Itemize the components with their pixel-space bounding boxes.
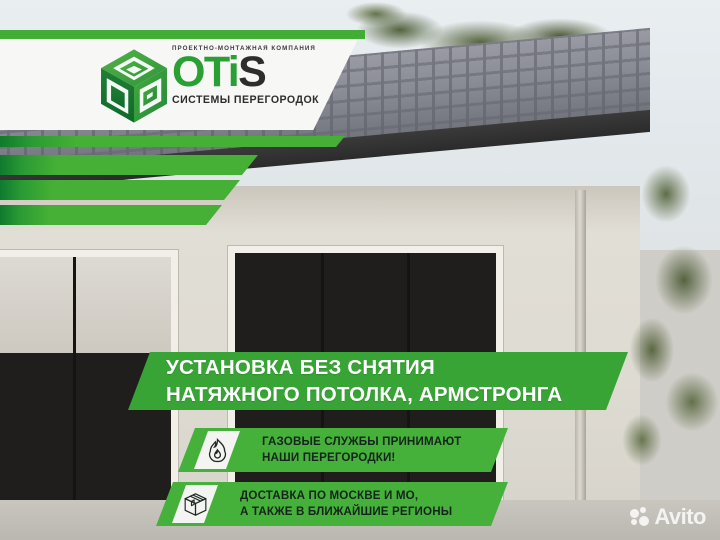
feature-line-1: ДОСТАВКА ПО МОСКВЕ И МО, xyxy=(240,488,452,504)
wordmark-ot: OT xyxy=(172,48,228,96)
feature-bar-gas-services: ГАЗОВЫЕ СЛУЖБЫ ПРИНИМАЮТ НАШИ ПЕРЕГОРОДК… xyxy=(178,428,508,472)
brand-wordmark: OTiS xyxy=(172,53,342,93)
wordmark-i: i xyxy=(228,48,238,96)
feature-text-group: ГАЗОВЫЕ СЛУЖБЫ ПРИНИМАЮТ НАШИ ПЕРЕГОРОДК… xyxy=(254,428,461,472)
feature-divider xyxy=(240,428,254,472)
feature-line-2: А ТАКЖЕ В БЛИЖАЙШИЕ РЕГИОНЫ xyxy=(240,504,452,520)
feature-bar-delivery: ДОСТАВКА ПО МОСКВЕ И МО, А ТАКЖЕ В БЛИЖА… xyxy=(156,482,508,526)
avito-dots-icon xyxy=(630,507,650,527)
isometric-cube-icon xyxy=(98,48,170,124)
feature-line-2: НАШИ ПЕРЕГОРОДКИ! xyxy=(262,450,461,466)
window-mullion xyxy=(73,257,76,533)
accent-stripe xyxy=(0,136,345,147)
company-tagline-bottom: СИСТЕМЫ ПЕРЕГОРОДОК xyxy=(172,94,342,106)
tree-foliage-right xyxy=(612,140,720,470)
header-top-accent-bar xyxy=(0,30,365,39)
feature-text-group: ДОСТАВКА ПО МОСКВЕ И МО, А ТАКЖЕ В БЛИЖА… xyxy=(232,482,452,526)
headline-line-2: НАТЯЖНОГО ПОТОЛКА, АРМСТРОНГА xyxy=(166,381,628,408)
accent-stripe xyxy=(0,205,222,225)
accent-stripe xyxy=(0,180,240,200)
window-upper-glass xyxy=(0,257,171,353)
avito-label: Avito xyxy=(654,506,706,528)
feature-line-1: ГАЗОВЫЕ СЛУЖБЫ ПРИНИМАЮТ xyxy=(262,434,461,450)
banner-image: ПРОЕКТНО-МОНТАЖНАЯ КОМПАНИЯ OTiS СИСТЕМЫ… xyxy=(0,0,720,540)
logo-wordmark-group: ПРОЕКТНО-МОНТАЖНАЯ КОМПАНИЯ OTiS СИСТЕМЫ… xyxy=(172,45,342,106)
avito-watermark: Avito xyxy=(630,506,706,528)
wordmark-s: S xyxy=(238,48,265,96)
headline-line-1: УСТАНОВКА БЕЗ СНЯТИЯ xyxy=(166,354,628,381)
accent-stripe xyxy=(0,155,258,175)
feature-divider xyxy=(218,482,232,526)
headline-banner: УСТАНОВКА БЕЗ СНЯТИЯ НАТЯЖНОГО ПОТОЛКА, … xyxy=(128,352,628,410)
